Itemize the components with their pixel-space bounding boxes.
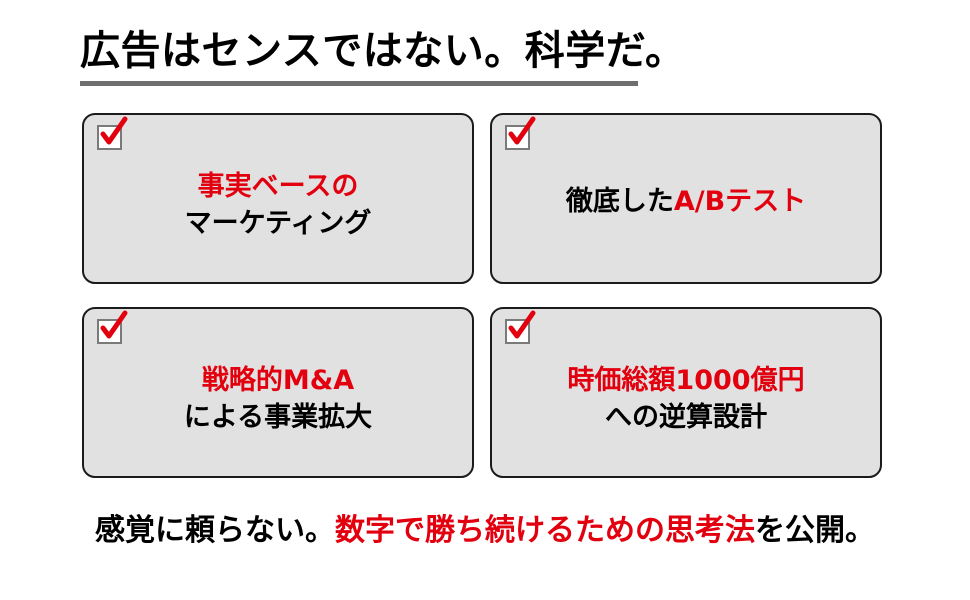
footer-tagline: 感覚に頼らない。数字で勝ち続けるための思考法を公開。 (0, 513, 970, 549)
check-icon (504, 116, 538, 150)
checkbox-fact-based-marketing[interactable] (97, 125, 122, 150)
checkbox-strategic-manda[interactable] (97, 319, 122, 344)
feature-card-line-2: への逆算設計 (567, 400, 804, 437)
feature-card-line-1: 戦略的M&A (184, 363, 372, 400)
feature-card-line-2: マーケティング (185, 206, 372, 243)
check-icon (96, 116, 130, 150)
feature-card-line-2: による事業拡大 (184, 400, 372, 437)
feature-card-ab-testing[interactable]: 徹底したA/Bテスト (490, 113, 882, 284)
feature-card-text: 時価総額1000億円 への逆算設計 (557, 363, 814, 436)
check-icon (504, 310, 538, 344)
feature-card-text: 徹底したA/Bテスト (556, 184, 816, 221)
footer-highlight-text: 数字で勝ち続けるための思考法 (335, 513, 755, 548)
feature-card-line-1: 時価総額1000億円 (567, 363, 804, 400)
checkbox-market-cap-target[interactable] (505, 319, 530, 344)
feature-card-grid: 事実ベースの マーケティング 徹底したA/Bテスト (82, 113, 882, 478)
checkbox-ab-testing[interactable] (505, 125, 530, 150)
footer-lead-text: 感覚に頼らない。 (95, 513, 335, 548)
feature-card-part-1: 徹底した (566, 186, 674, 217)
footer-tail-text: を公開。 (755, 513, 875, 548)
title-block: 広告はセンスではない。科学だ。 (80, 28, 640, 86)
feature-card-strategic-manda[interactable]: 戦略的M&A による事業拡大 (82, 307, 474, 478)
feature-card-text: 事実ベースの マーケティング (175, 169, 382, 242)
feature-card-market-cap-target[interactable]: 時価総額1000億円 への逆算設計 (490, 307, 882, 478)
feature-card-fact-based-marketing[interactable]: 事実ベースの マーケティング (82, 113, 474, 284)
feature-card-text: 戦略的M&A による事業拡大 (174, 363, 382, 436)
feature-card-line-1: 事実ベースの (185, 169, 372, 206)
title-underline-rule (80, 81, 638, 86)
check-icon (96, 310, 130, 344)
feature-card-part-2: A/Bテスト (674, 186, 806, 217)
slide-canvas: 広告はセンスではない。科学だ。 事実ベースの マーケティング (0, 0, 970, 600)
page-title: 広告はセンスではない。科学だ。 (80, 28, 640, 74)
